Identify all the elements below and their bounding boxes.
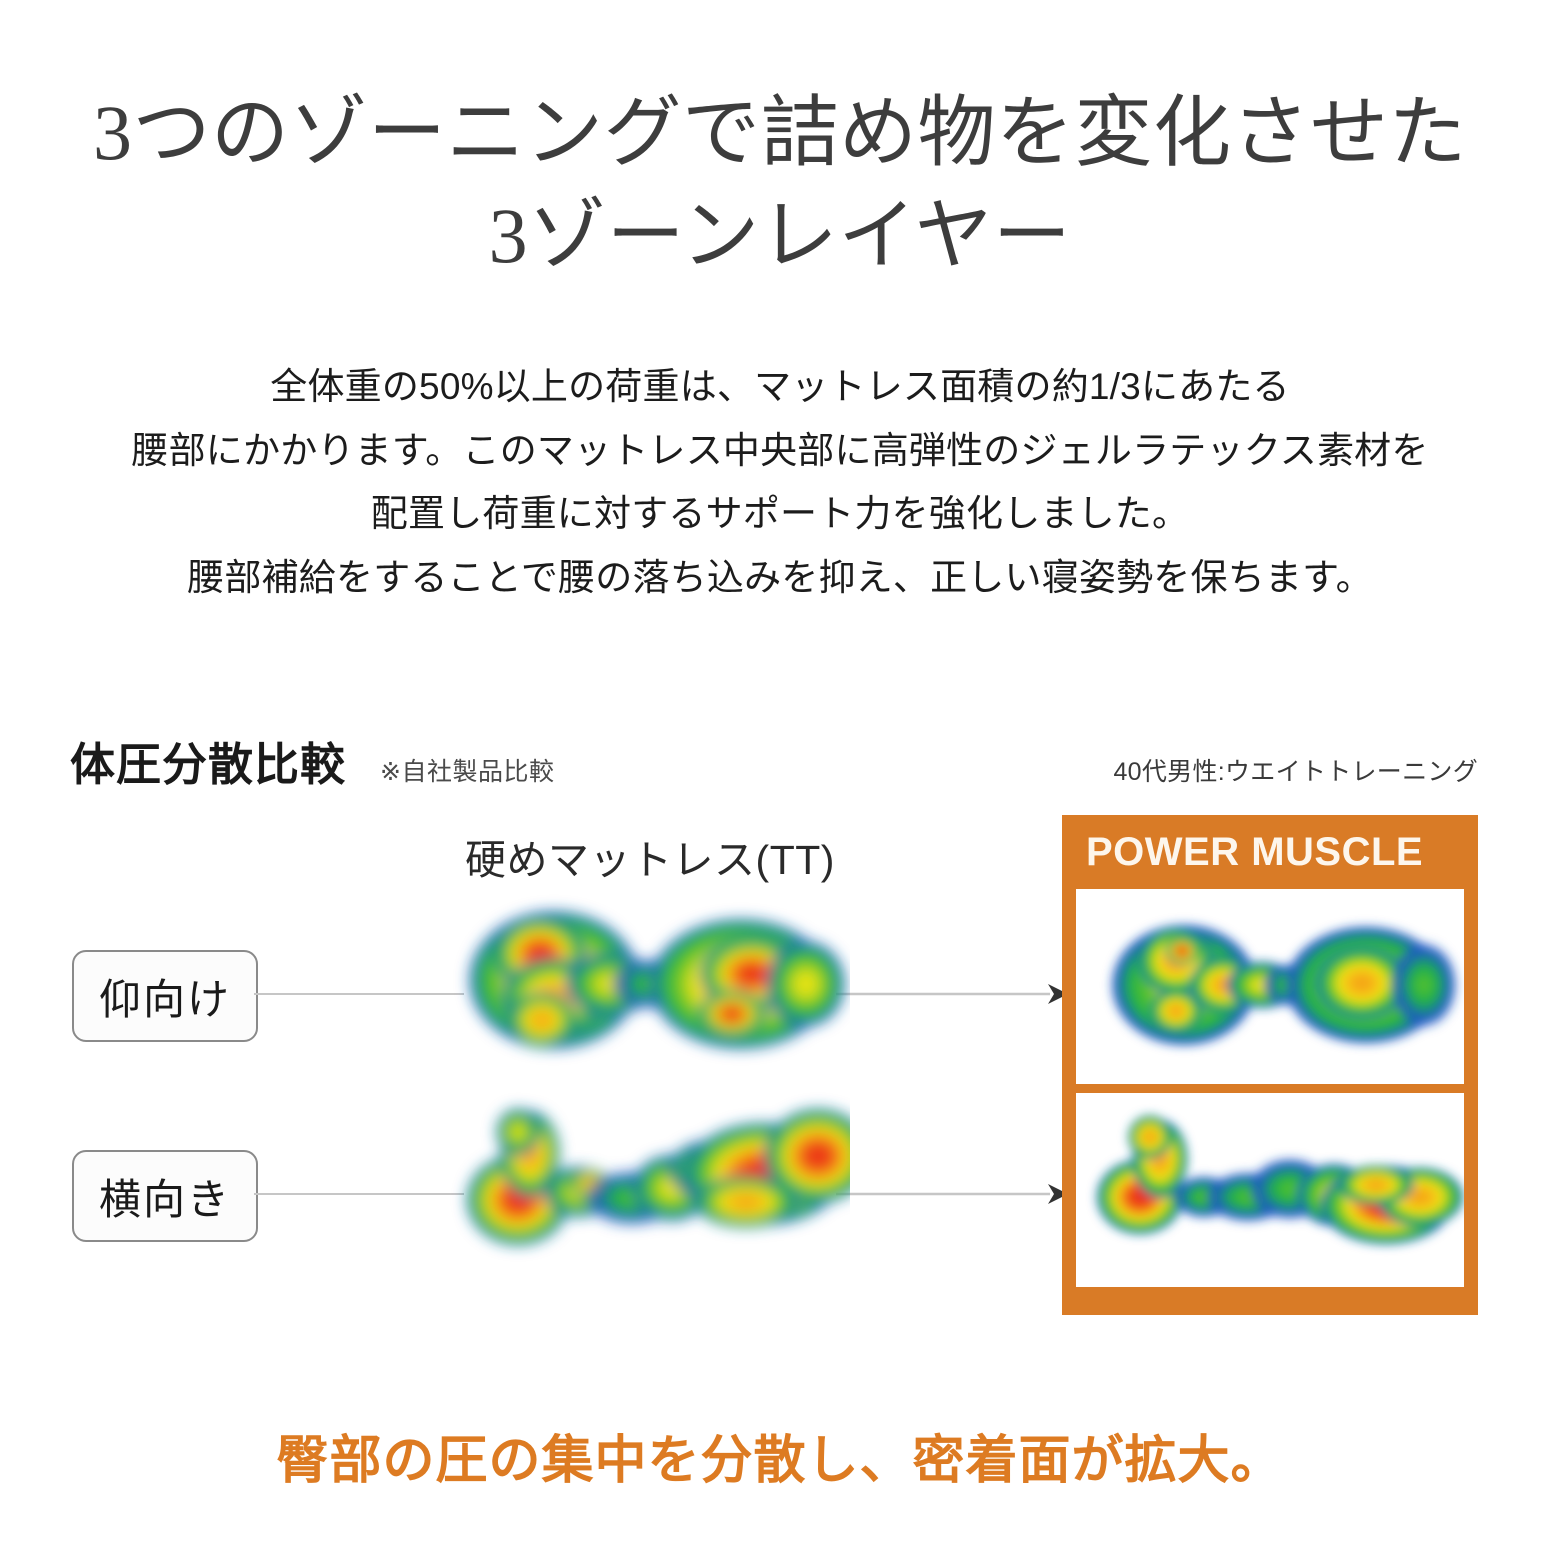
heatmap-baseline-side xyxy=(446,1092,850,1282)
lead-line-2: 腰部にかかります。このマットレス中央部に高弾性のジェルラテックス素材を xyxy=(0,419,1560,483)
posture-chip-side: 横向き xyxy=(72,1150,258,1242)
posture-chip-supine-label: 仰向け xyxy=(99,966,231,1027)
test-subject-note: 40代男性:ウエイトトレーニング xyxy=(1113,752,1478,788)
lead-line-1: 全体重の50%以上の荷重は、マットレス面積の約1/3にあたる xyxy=(0,355,1560,419)
heatmap-product-side xyxy=(1076,1093,1464,1288)
connector-line-side xyxy=(254,1193,464,1195)
lead-paragraph: 全体重の50%以上の荷重は、マットレス面積の約1/3にあたる 腰部にかかります。… xyxy=(0,355,1560,610)
comparison-section-header: 体圧分散比較 ※自社製品比較 xyxy=(70,728,554,793)
arrow-right-icon xyxy=(836,1182,1068,1206)
product-brand-label: POWER MUSCLE xyxy=(1062,815,1478,889)
bottom-highlight-caption: 臀部の圧の集中を分散し、密着面が拡大。 xyxy=(0,1418,1560,1493)
page-title-line-2: 3ゾーンレイヤー xyxy=(0,185,1560,288)
lead-line-4: 腰部補給をすることで腰の落ち込みを抑え、正しい寝姿勢を保ちます。 xyxy=(0,546,1560,610)
posture-chip-supine: 仰向け xyxy=(72,950,258,1042)
heatmap-baseline-supine xyxy=(446,892,850,1082)
product-result-panel: POWER MUSCLE xyxy=(1062,815,1478,1315)
posture-chip-side-label: 横向き xyxy=(99,1166,231,1227)
baseline-column-label: 硬めマットレス(TT) xyxy=(440,826,860,886)
heatmap-product-supine xyxy=(1076,889,1464,1084)
product-result-images xyxy=(1076,889,1464,1287)
comparison-section-note: ※自社製品比較 xyxy=(380,752,554,788)
connector-line-supine xyxy=(254,993,464,995)
page-title-line-1: 3つのゾーニングで詰め物を変化させた xyxy=(0,82,1560,185)
page-title: 3つのゾーニングで詰め物を変化させた 3ゾーンレイヤー xyxy=(0,82,1560,288)
arrow-side-to-product xyxy=(836,1182,1068,1206)
comparison-section-title: 体圧分散比較 xyxy=(70,728,346,793)
arrow-supine-to-product xyxy=(836,982,1068,1006)
lead-line-3: 配置し荷重に対するサポート力を強化しました。 xyxy=(0,482,1560,546)
arrow-right-icon xyxy=(836,982,1068,1006)
